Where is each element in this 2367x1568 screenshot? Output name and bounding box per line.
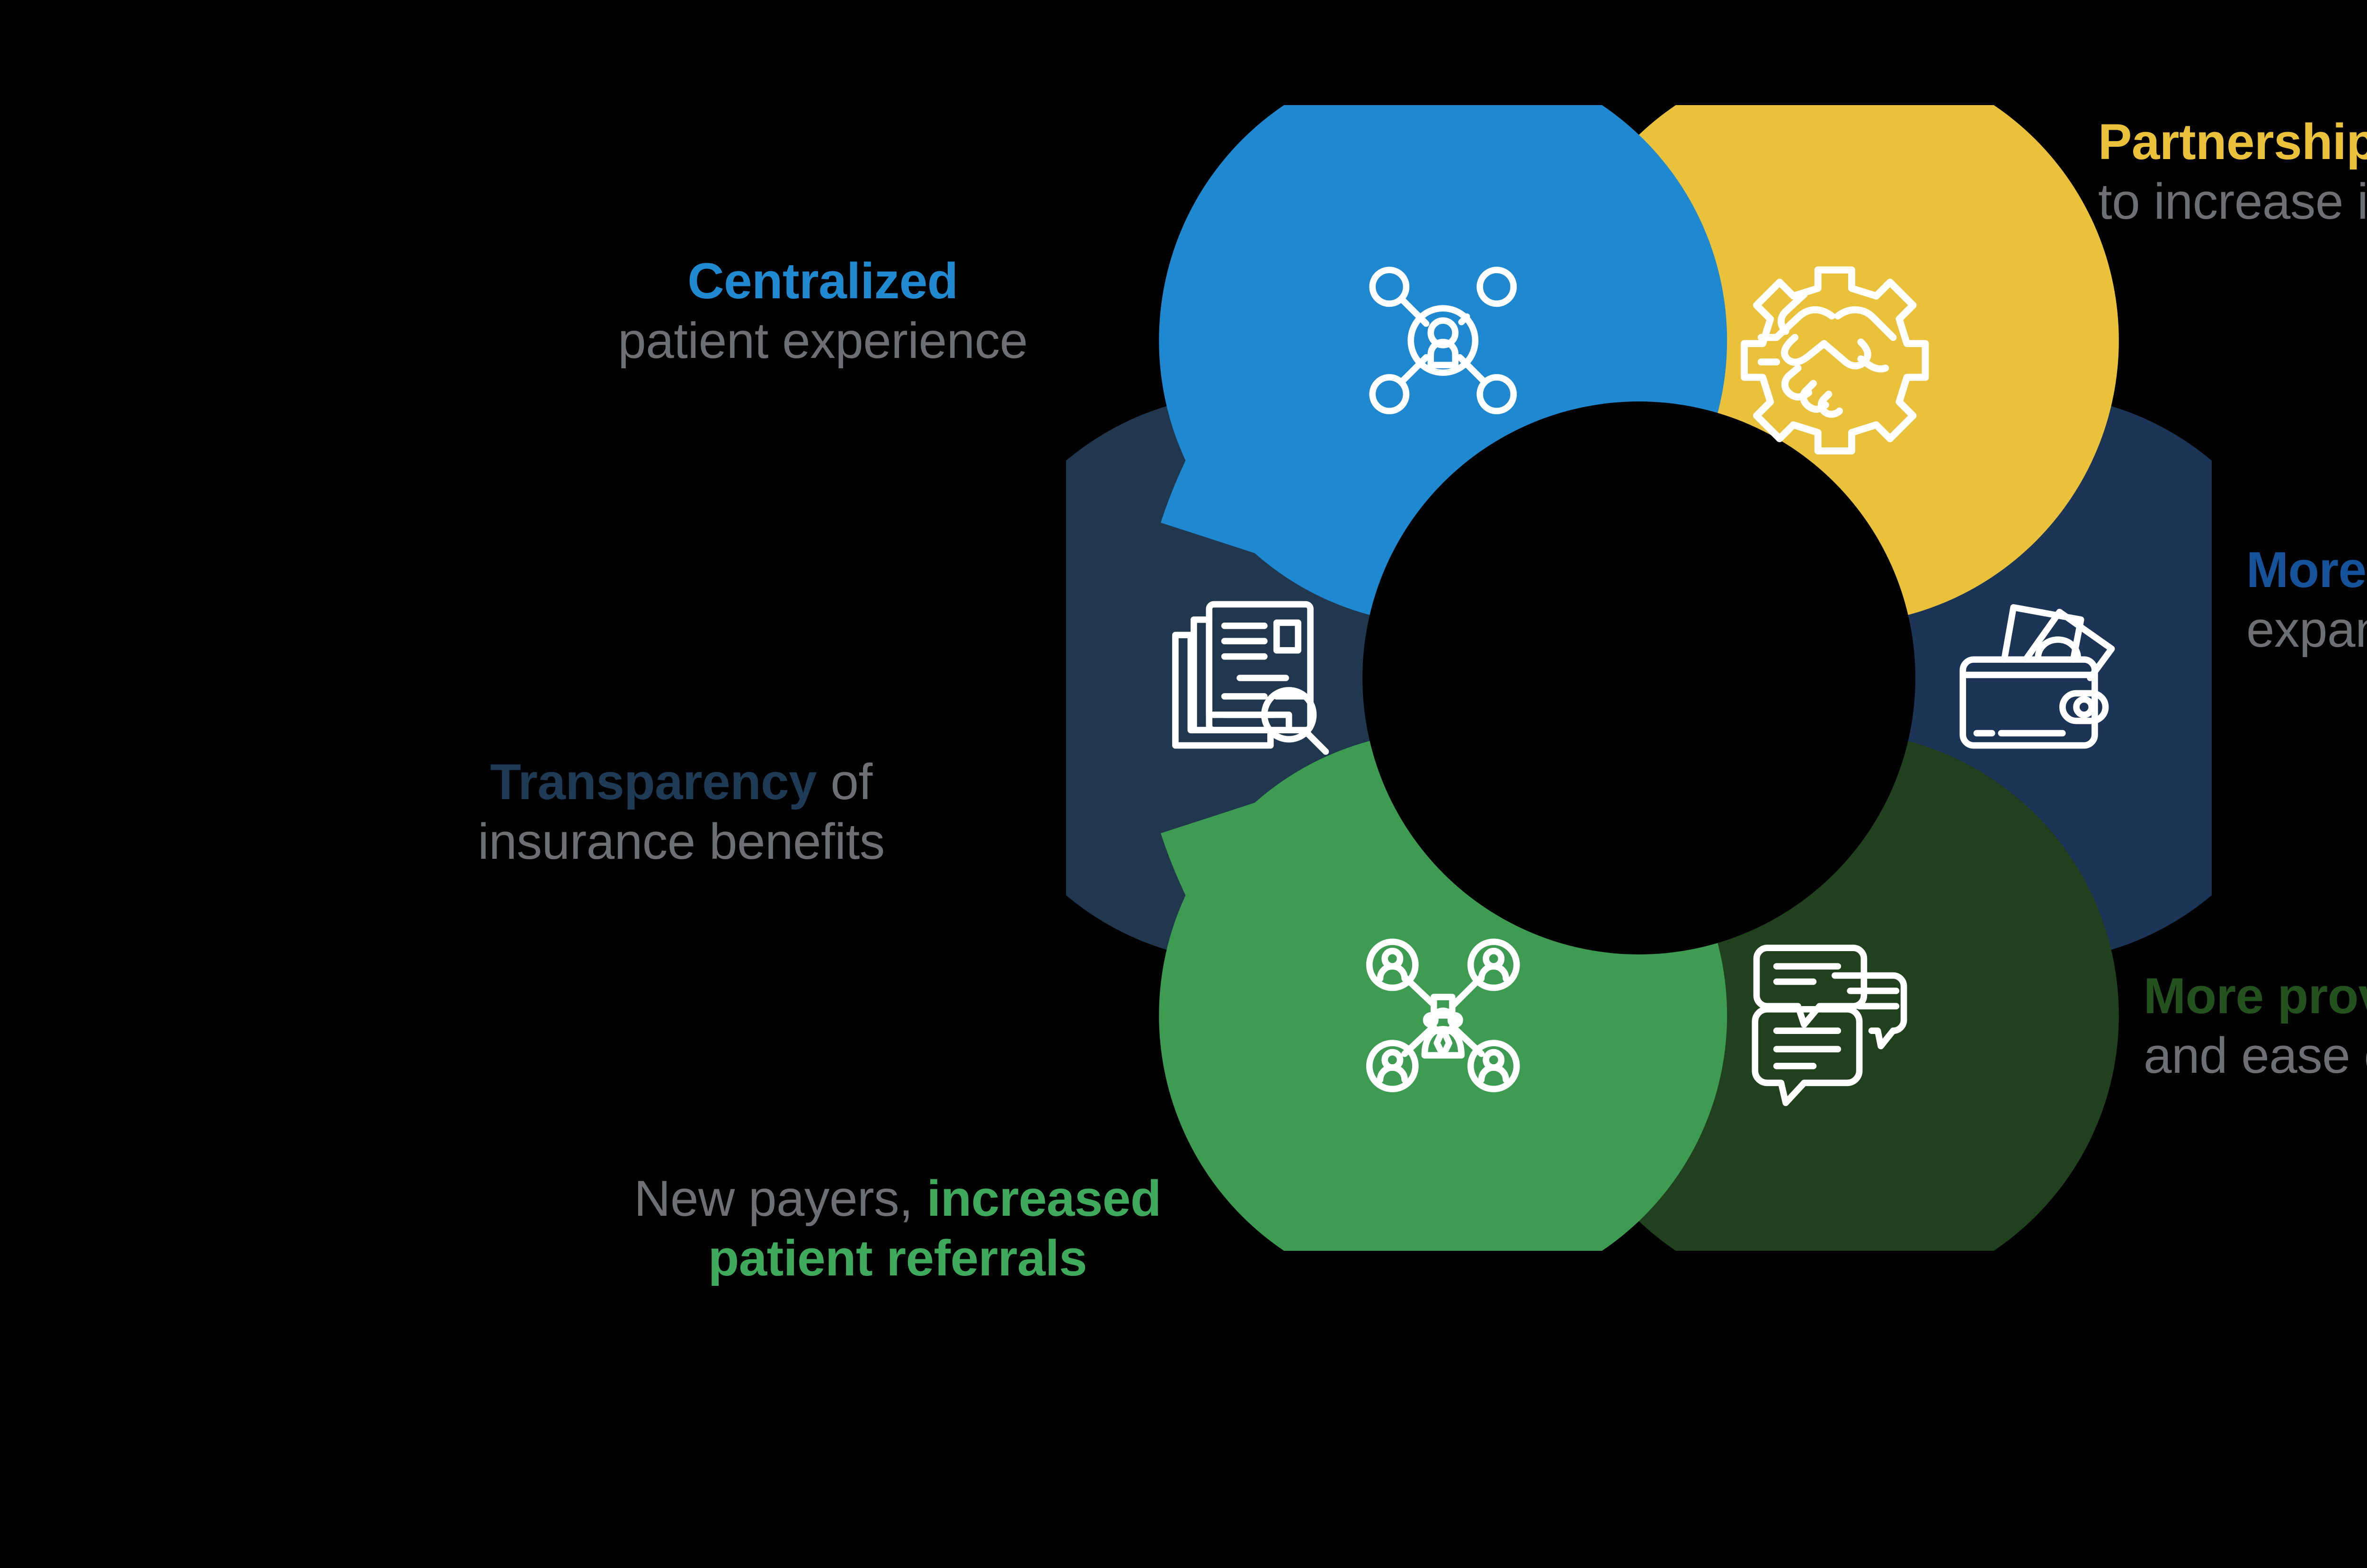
label-centralized-line2: patient experience bbox=[521, 311, 1125, 370]
label-partnership-line2: to increase incremental sales bbox=[2098, 171, 2367, 231]
label-payer-support: More payer support with expanded marketi… bbox=[2246, 540, 2367, 659]
label-referrals-line1: New payers, increased bbox=[519, 1168, 1276, 1228]
diagram-canvas: Partnership with provider network to inc… bbox=[0, 0, 2367, 1568]
label-provider-communication-line2: and ease of processing bbox=[2144, 1025, 2367, 1085]
donut-center-hole bbox=[1362, 401, 1915, 954]
label-referrals-line2: patient referrals bbox=[519, 1228, 1276, 1288]
donut-cycle-diagram bbox=[1066, 105, 2212, 1251]
label-centralized: Centralized patient experience bbox=[521, 251, 1125, 371]
label-referrals-strong: increased bbox=[927, 1170, 1161, 1227]
label-payer-support-line1: More payer support with bbox=[2246, 540, 2367, 599]
label-referrals: New payers, increased patient referrals bbox=[519, 1168, 1276, 1288]
label-provider-communication: More provider communication and ease of … bbox=[2144, 966, 2367, 1086]
label-payer-support-strong: More payer support bbox=[2246, 541, 2367, 598]
label-referrals-muted: New payers, bbox=[634, 1170, 926, 1227]
label-transparency-line2: insurance benefits bbox=[371, 811, 991, 871]
label-transparency-muted: of bbox=[817, 753, 872, 810]
label-transparency-strong: Transparency bbox=[490, 753, 817, 810]
label-provider-communication-line1: More provider communication bbox=[2144, 966, 2367, 1025]
label-partnership-line1: Partnership with provider network bbox=[2098, 112, 2367, 171]
label-payer-support-line2: expanded marketing bbox=[2246, 599, 2367, 659]
label-transparency: Transparency of insurance benefits bbox=[371, 752, 991, 872]
label-centralized-line1: Centralized bbox=[521, 251, 1125, 311]
label-partnership: Partnership with provider network to inc… bbox=[2098, 112, 2367, 232]
label-transparency-line1: Transparency of bbox=[371, 752, 991, 811]
